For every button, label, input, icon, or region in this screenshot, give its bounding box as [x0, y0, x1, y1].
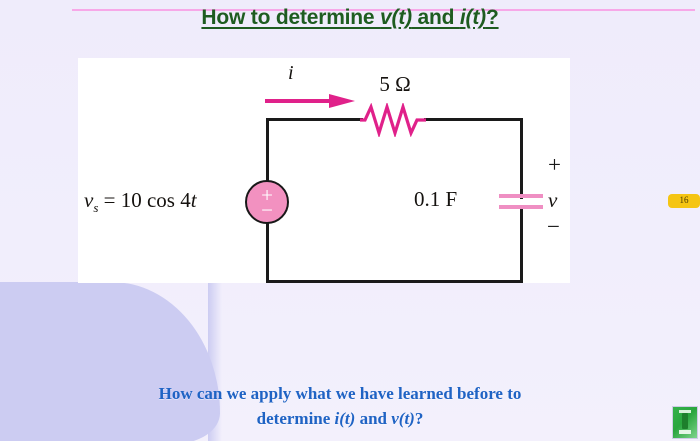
- resistor-value-label: 5 Ω: [355, 72, 435, 97]
- capacitor-plate-bottom: [499, 205, 543, 209]
- voltage-source-symbol-icon: + −: [245, 180, 289, 224]
- question-line-2-conjunction: and: [355, 409, 391, 428]
- source-symbol: v: [84, 188, 93, 212]
- capacitor-voltage-label: v: [548, 188, 557, 213]
- current-label: i: [288, 62, 294, 85]
- title-variable-i: i(t): [460, 6, 486, 29]
- question-variable-v: v(t): [391, 409, 415, 428]
- title-variable-v: v(t): [380, 6, 412, 29]
- source-expression: = 10 cos 4: [98, 188, 190, 212]
- title-conjunction: and: [412, 6, 460, 29]
- wire-top-left: [266, 118, 363, 121]
- source-value-label: vs = 10 cos 4t: [84, 188, 197, 216]
- page-number-badge[interactable]: 16: [668, 194, 700, 208]
- capacitor-plus-sign: +: [548, 152, 561, 178]
- title-suffix: ?: [486, 6, 499, 29]
- question-variable-i: i(t): [335, 409, 356, 428]
- circuit-figure-panel: [78, 58, 570, 283]
- current-direction-arrow-icon: [265, 93, 357, 109]
- slide-canvas: How to determine v(t) and i(t)? i 5 Ω + …: [0, 0, 700, 441]
- page-title: How to determine v(t) and i(t)?: [0, 6, 700, 30]
- question-line-2-prefix: determine: [257, 409, 335, 428]
- capacitor-minus-sign: −: [547, 214, 560, 240]
- capacitor-plate-top: [499, 194, 543, 198]
- title-prefix: How to determine: [201, 6, 380, 29]
- question-line-2-suffix: ?: [415, 409, 424, 428]
- wire-right-upper: [520, 118, 523, 199]
- question-line-1: How can we apply what we have learned be…: [159, 384, 522, 403]
- flashlight-icon-body: [682, 413, 688, 429]
- wire-top-right: [424, 118, 523, 121]
- wire-left-upper: [266, 118, 269, 182]
- flashlight-icon-base: [679, 430, 691, 434]
- wire-bottom: [266, 280, 523, 283]
- capacitor-value-label: 0.1 F: [414, 187, 457, 212]
- resistor-symbol-icon: [360, 103, 426, 137]
- flashlight-icon[interactable]: [672, 406, 698, 439]
- wire-right-lower: [520, 205, 523, 283]
- source-time-variable: t: [191, 188, 197, 212]
- source-minus-sign: −: [247, 200, 287, 221]
- bottom-question-text: How can we apply what we have learned be…: [60, 381, 620, 431]
- wire-left-lower: [266, 222, 269, 283]
